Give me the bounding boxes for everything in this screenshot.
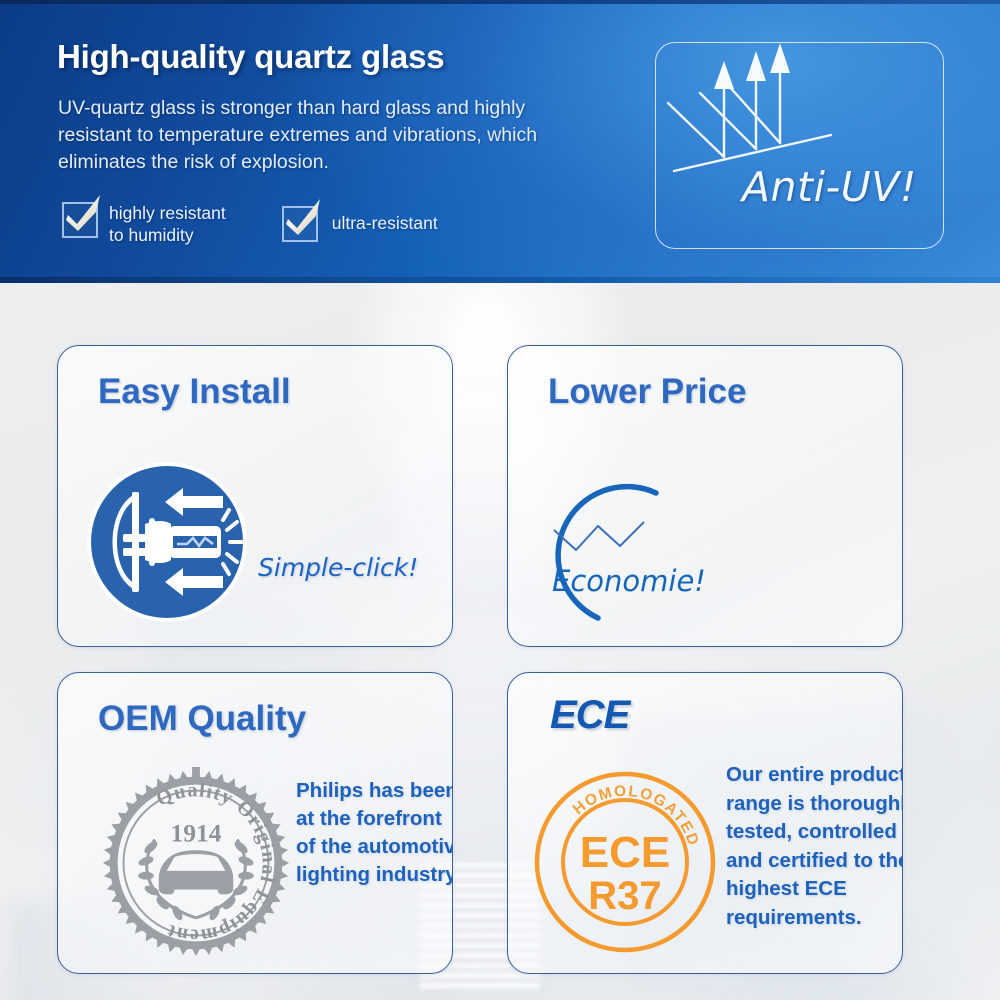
check-label-line: ultra-resistant <box>332 212 438 234</box>
checkbox-ultra-resistant[interactable] <box>282 206 318 242</box>
economie-arc-icon <box>526 458 741 633</box>
checkmark-icon <box>62 190 106 234</box>
check-label-line: highly resistant <box>109 202 226 224</box>
oem-body-line: of the automotive <box>296 833 453 861</box>
check-label-humidity: highly resistant to humidity <box>109 202 226 246</box>
uv-rays-reflection-icon <box>656 43 943 248</box>
anti-uv-badge: Anti-UV! <box>655 42 944 249</box>
check-label-ultra-resistant: ultra-resistant <box>332 206 438 234</box>
card-title-easy-install: Easy Install <box>98 372 291 412</box>
ece-seal-line2: R37 <box>588 874 661 918</box>
quality-original-equipment-seal-icon: Quality Original Equipment 1914 <box>98 765 294 961</box>
oem-quality-body: Philips has been at the forefront of the… <box>296 777 453 889</box>
lower-price-subtitle: Economie! <box>552 564 706 598</box>
header-description-line: UV-quartz glass is stronger than hard gl… <box>58 95 618 122</box>
card-title-oem-quality: OEM Quality <box>98 699 306 739</box>
ece-homologated-seal-icon: HOMOLOGATED ECE R37 <box>530 767 720 957</box>
header-feature-checks: highly resistant to humidity ultra-resis… <box>62 202 438 246</box>
product-feature-infographic: High-quality quartz glass UV-quartz glas… <box>0 0 1000 1000</box>
header-description: UV-quartz glass is stronger than hard gl… <box>58 95 618 176</box>
check-item-humidity: highly resistant to humidity <box>62 202 226 246</box>
seal-year: 1914 <box>171 818 222 847</box>
easy-install-subtitle: Simple-click! <box>258 553 418 582</box>
check-label-line: to humidity <box>109 224 226 246</box>
ece-body-line: Our entire product <box>726 761 903 790</box>
header-description-line: resistant to temperature extremes and vi… <box>58 122 618 149</box>
ece-body-line: tested, controlled <box>726 818 903 847</box>
anti-uv-label: Anti-UV! <box>742 163 917 211</box>
card-lower-price[interactable]: Lower Price Economie! <box>507 345 903 647</box>
ece-body: Our entire product range is thoroughly t… <box>726 761 903 932</box>
check-item-ultra-resistant: ultra-resistant <box>282 202 438 242</box>
checkbox-humidity[interactable] <box>62 202 98 238</box>
card-ece[interactable]: ECE HOMOLOGATED ECE R37 Our entire produ… <box>507 672 903 974</box>
oem-body-line: lighting industry <box>296 861 453 889</box>
header-description-line: eliminates the risk of explosion. <box>58 149 618 176</box>
car-icon <box>159 850 233 894</box>
oem-body-line: at the forefront <box>296 805 453 833</box>
bulb-install-icon <box>83 458 251 626</box>
card-title-lower-price: Lower Price <box>548 372 746 412</box>
card-title-ece: ECE <box>550 693 629 738</box>
ece-seal-line1: ECE <box>580 828 670 877</box>
ece-body-line: and certified to the <box>726 847 903 876</box>
checkmark-icon <box>282 194 326 238</box>
card-oem-quality[interactable]: OEM Quality Quality Original Equipment <box>57 672 453 974</box>
page-title: High-quality quartz glass <box>57 38 444 76</box>
ece-body-line: requirements. <box>726 904 903 933</box>
card-easy-install[interactable]: Easy Install <box>57 345 453 647</box>
header-banner: High-quality quartz glass UV-quartz glas… <box>0 0 1000 283</box>
oem-body-line: Philips has been <box>296 777 453 805</box>
ece-body-line: highest ECE <box>726 875 903 904</box>
ece-body-line: range is thoroughly <box>726 790 903 819</box>
